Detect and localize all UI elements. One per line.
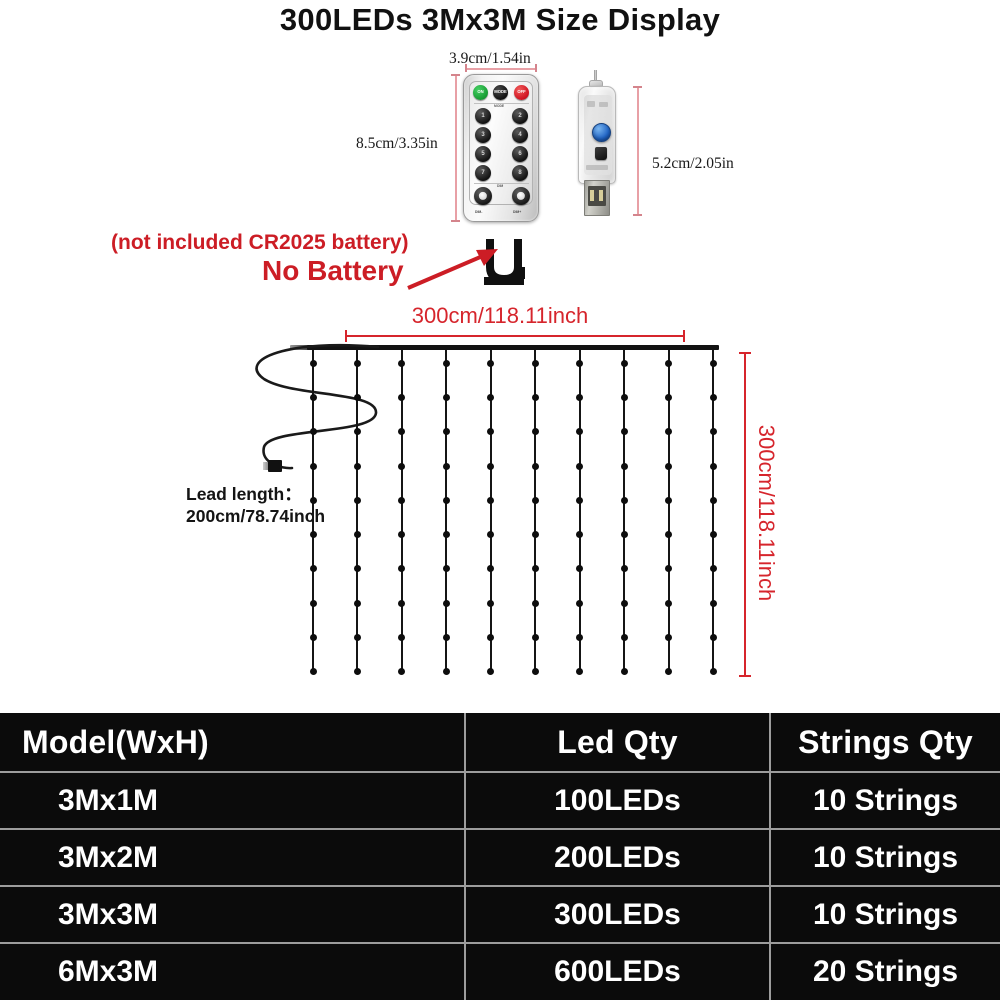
led-dot — [398, 634, 405, 641]
curtain-height-label: 300cm/118.11inch — [753, 425, 779, 602]
table-cell-strings-qty: 20 Strings — [771, 944, 1000, 1000]
remote-face-panel: ON MODE OFF MODE 1 2 3 4 5 6 7 — [469, 81, 533, 205]
remote-width-cap-left — [465, 64, 467, 72]
remote-height-dim-line — [455, 74, 457, 222]
led-dot — [310, 497, 317, 504]
remote-button-6-label: 6 — [512, 146, 528, 162]
table-cell-led-qty: 600LEDs — [466, 944, 771, 1000]
ir-receiver-icon — [595, 147, 607, 160]
remote-control: ON MODE OFF MODE 1 2 3 4 5 6 7 — [463, 74, 539, 222]
remote-mode-label: MODE — [493, 85, 508, 100]
no-battery-arrow-icon — [400, 240, 510, 295]
led-dot — [621, 394, 628, 401]
led-dot — [487, 428, 494, 435]
led-dot — [576, 634, 583, 641]
led-dot — [710, 668, 717, 675]
table-cell-led-qty: 300LEDs — [466, 887, 771, 942]
led-dot — [398, 600, 405, 607]
led-dot — [487, 531, 494, 538]
led-dot — [443, 360, 450, 367]
remote-button-4[interactable]: 4 — [512, 127, 528, 143]
led-dot — [354, 463, 361, 470]
led-dot — [665, 463, 672, 470]
remote-height-cap-bottom — [451, 220, 460, 222]
led-dot — [310, 668, 317, 675]
remote-on-label: ON — [473, 85, 488, 100]
led-dot — [532, 634, 539, 641]
spec-table: Model(WxH) Led Qty Strings Qty 3Mx1M 100… — [0, 713, 1000, 1000]
usb-housing — [578, 86, 616, 184]
led-dot — [710, 600, 717, 607]
remote-height-cap-top — [451, 74, 460, 76]
led-dot — [398, 497, 405, 504]
usb-chip-a — [587, 101, 595, 107]
led-dot — [443, 565, 450, 572]
remote-mode-caption: MODE — [494, 104, 504, 108]
led-dot — [443, 600, 450, 607]
led-dot — [665, 497, 672, 504]
table-row: 3Mx1M 100LEDs 10 Strings — [0, 773, 1000, 830]
table-cell-strings-qty: 10 Strings — [771, 830, 1000, 885]
led-dot — [532, 565, 539, 572]
led-dot — [310, 394, 317, 401]
curtain-width-label: 300cm/118.11inch — [0, 303, 1000, 329]
led-dot — [443, 428, 450, 435]
curtain-height-dim-line — [744, 352, 746, 677]
remote-button-2-label: 2 — [512, 108, 528, 124]
table-cell-model: 3Mx2M — [0, 830, 466, 885]
led-dot — [487, 634, 494, 641]
led-dot — [621, 531, 628, 538]
battery-not-included-note: (not included CR2025 battery) — [111, 231, 409, 255]
led-dot — [665, 634, 672, 641]
remote-width-cap-right — [535, 64, 537, 72]
led-dot — [487, 600, 494, 607]
led-dot — [443, 531, 450, 538]
curtain-light-diagram: 300cm/118.11inch 300cm/118.11inch Lead l… — [0, 300, 1000, 700]
led-dot — [532, 531, 539, 538]
table-row: 6Mx3M 600LEDs 20 Strings — [0, 944, 1000, 1000]
table-cell-led-qty: 200LEDs — [466, 830, 771, 885]
led-dot — [310, 463, 317, 470]
remote-width-label: 3.9cm/1.54in — [449, 50, 531, 68]
remote-dim-minus-caption: DIM- — [475, 210, 482, 214]
led-dot — [398, 360, 405, 367]
led-dot — [710, 565, 717, 572]
lead-usb-plug-icon — [268, 460, 282, 472]
led-dot — [487, 565, 494, 572]
led-dot — [354, 634, 361, 641]
remote-on-button[interactable]: ON — [473, 85, 488, 100]
led-dot — [532, 428, 539, 435]
led-dot — [621, 497, 628, 504]
remote-button-7-label: 7 — [475, 165, 491, 181]
led-dot — [532, 600, 539, 607]
led-dot — [576, 668, 583, 675]
remote-button-7[interactable]: 7 — [475, 165, 491, 181]
remote-button-2[interactable]: 2 — [512, 108, 528, 124]
led-dot — [621, 428, 628, 435]
led-dot — [576, 531, 583, 538]
usb-height-cap-top — [633, 86, 642, 88]
usb-chip-c — [586, 165, 608, 170]
led-dot — [310, 360, 317, 367]
remote-button-6[interactable]: 6 — [512, 146, 528, 162]
led-dot — [576, 360, 583, 367]
led-dot — [487, 497, 494, 504]
led-dot — [487, 463, 494, 470]
led-dot — [621, 634, 628, 641]
lead-length-line2: 200cm/78.74inch — [186, 506, 325, 526]
remote-button-3[interactable]: 3 — [475, 127, 491, 143]
remote-button-5-label: 5 — [475, 146, 491, 162]
led-dot — [710, 394, 717, 401]
remote-button-1[interactable]: 1 — [475, 108, 491, 124]
remote-button-8-label: 8 — [512, 165, 528, 181]
led-dot — [665, 668, 672, 675]
remote-dim-caption: DIM — [497, 184, 503, 188]
table-cell-model: 3Mx1M — [0, 773, 466, 828]
led-dot — [398, 565, 405, 572]
led-dot — [665, 428, 672, 435]
usb-a-connector — [584, 180, 610, 216]
table-header-strings-qty: Strings Qty — [771, 713, 1000, 771]
table-cell-led-qty: 100LEDs — [466, 773, 771, 828]
led-dot — [532, 463, 539, 470]
led-dot — [398, 531, 405, 538]
remote-button-5[interactable]: 5 — [475, 146, 491, 162]
led-dot — [310, 531, 317, 538]
table-cell-model: 3Mx3M — [0, 887, 466, 942]
led-dot — [621, 463, 628, 470]
led-dot — [354, 600, 361, 607]
remote-dim-up-icon — [517, 192, 525, 200]
led-dot — [621, 600, 628, 607]
led-dot — [710, 428, 717, 435]
remote-dim-plus-caption: DIM+ — [513, 210, 521, 214]
usb-mode-button[interactable] — [592, 123, 611, 142]
led-dot — [443, 497, 450, 504]
led-dot — [576, 463, 583, 470]
led-dot — [710, 463, 717, 470]
remote-button-4-label: 4 — [512, 127, 528, 143]
usb-controller — [570, 70, 626, 222]
led-dot — [532, 360, 539, 367]
led-dot — [487, 668, 494, 675]
led-dot — [354, 531, 361, 538]
remote-mode-button[interactable]: MODE — [493, 85, 508, 100]
remote-dim-down-icon — [479, 192, 487, 200]
lead-length-label: Lead length： 200cm/78.74inch — [186, 483, 325, 528]
led-dot — [710, 634, 717, 641]
table-header-row: Model(WxH) Led Qty Strings Qty — [0, 713, 1000, 773]
usb-pin-2 — [599, 190, 603, 201]
led-dot — [710, 497, 717, 504]
led-dot — [710, 360, 717, 367]
led-dot — [443, 394, 450, 401]
usb-height-label: 5.2cm/2.05in — [652, 155, 734, 173]
led-dot — [665, 565, 672, 572]
remote-width-dim-line — [465, 68, 537, 70]
led-dot — [576, 394, 583, 401]
led-dot — [310, 565, 317, 572]
led-dot — [621, 565, 628, 572]
remote-height-label: 8.5cm/3.35in — [356, 135, 438, 153]
led-dot — [710, 531, 717, 538]
usb-pin-1 — [590, 190, 594, 201]
led-dot — [576, 565, 583, 572]
led-dot — [487, 394, 494, 401]
led-dot — [443, 668, 450, 675]
remote-button-3-label: 3 — [475, 127, 491, 143]
led-dot — [398, 394, 405, 401]
led-dot — [576, 600, 583, 607]
usb-height-cap-bottom — [633, 214, 642, 216]
page-title: 300LEDs 3Mx3M Size Display — [0, 2, 1000, 38]
led-dot — [532, 497, 539, 504]
remote-dim-up-button[interactable] — [512, 187, 530, 205]
table-header-led-qty: Led Qty — [466, 713, 771, 771]
led-dot — [310, 634, 317, 641]
led-dot — [621, 360, 628, 367]
remote-off-label: OFF — [514, 85, 529, 100]
led-dot — [398, 428, 405, 435]
curtain-width-dim-line — [345, 335, 685, 337]
remote-off-button[interactable]: OFF — [514, 85, 529, 100]
table-cell-strings-qty: 10 Strings — [771, 773, 1000, 828]
lead-length-line1: Lead length： — [186, 484, 302, 504]
table-row: 3Mx2M 200LEDs 10 Strings — [0, 830, 1000, 887]
led-dot — [621, 668, 628, 675]
led-dot — [665, 600, 672, 607]
led-dot — [310, 428, 317, 435]
led-dot — [665, 394, 672, 401]
led-dot — [354, 360, 361, 367]
usb-connector-slot — [588, 186, 606, 206]
led-dot — [354, 668, 361, 675]
usb-chip-b — [599, 102, 608, 107]
led-dot — [532, 394, 539, 401]
led-dot — [576, 428, 583, 435]
remote-button-1-label: 1 — [475, 108, 491, 124]
led-dot — [665, 531, 672, 538]
led-dot — [665, 360, 672, 367]
led-dot — [398, 463, 405, 470]
led-dot — [443, 463, 450, 470]
led-dot — [398, 668, 405, 675]
table-cell-strings-qty: 10 Strings — [771, 887, 1000, 942]
led-dot — [354, 565, 361, 572]
led-dot — [576, 497, 583, 504]
led-dot — [532, 668, 539, 675]
table-cell-model: 6Mx3M — [0, 944, 466, 1000]
table-row: 3Mx3M 300LEDs 10 Strings — [0, 887, 1000, 944]
remote-dim-down-button[interactable] — [474, 187, 492, 205]
led-dot — [487, 360, 494, 367]
table-header-model: Model(WxH) — [0, 713, 466, 771]
led-dot — [354, 497, 361, 504]
led-dot — [443, 634, 450, 641]
no-battery-label: No Battery — [262, 255, 404, 287]
remote-button-8[interactable]: 8 — [512, 165, 528, 181]
usb-height-dim-line — [637, 86, 639, 216]
led-dot — [310, 600, 317, 607]
